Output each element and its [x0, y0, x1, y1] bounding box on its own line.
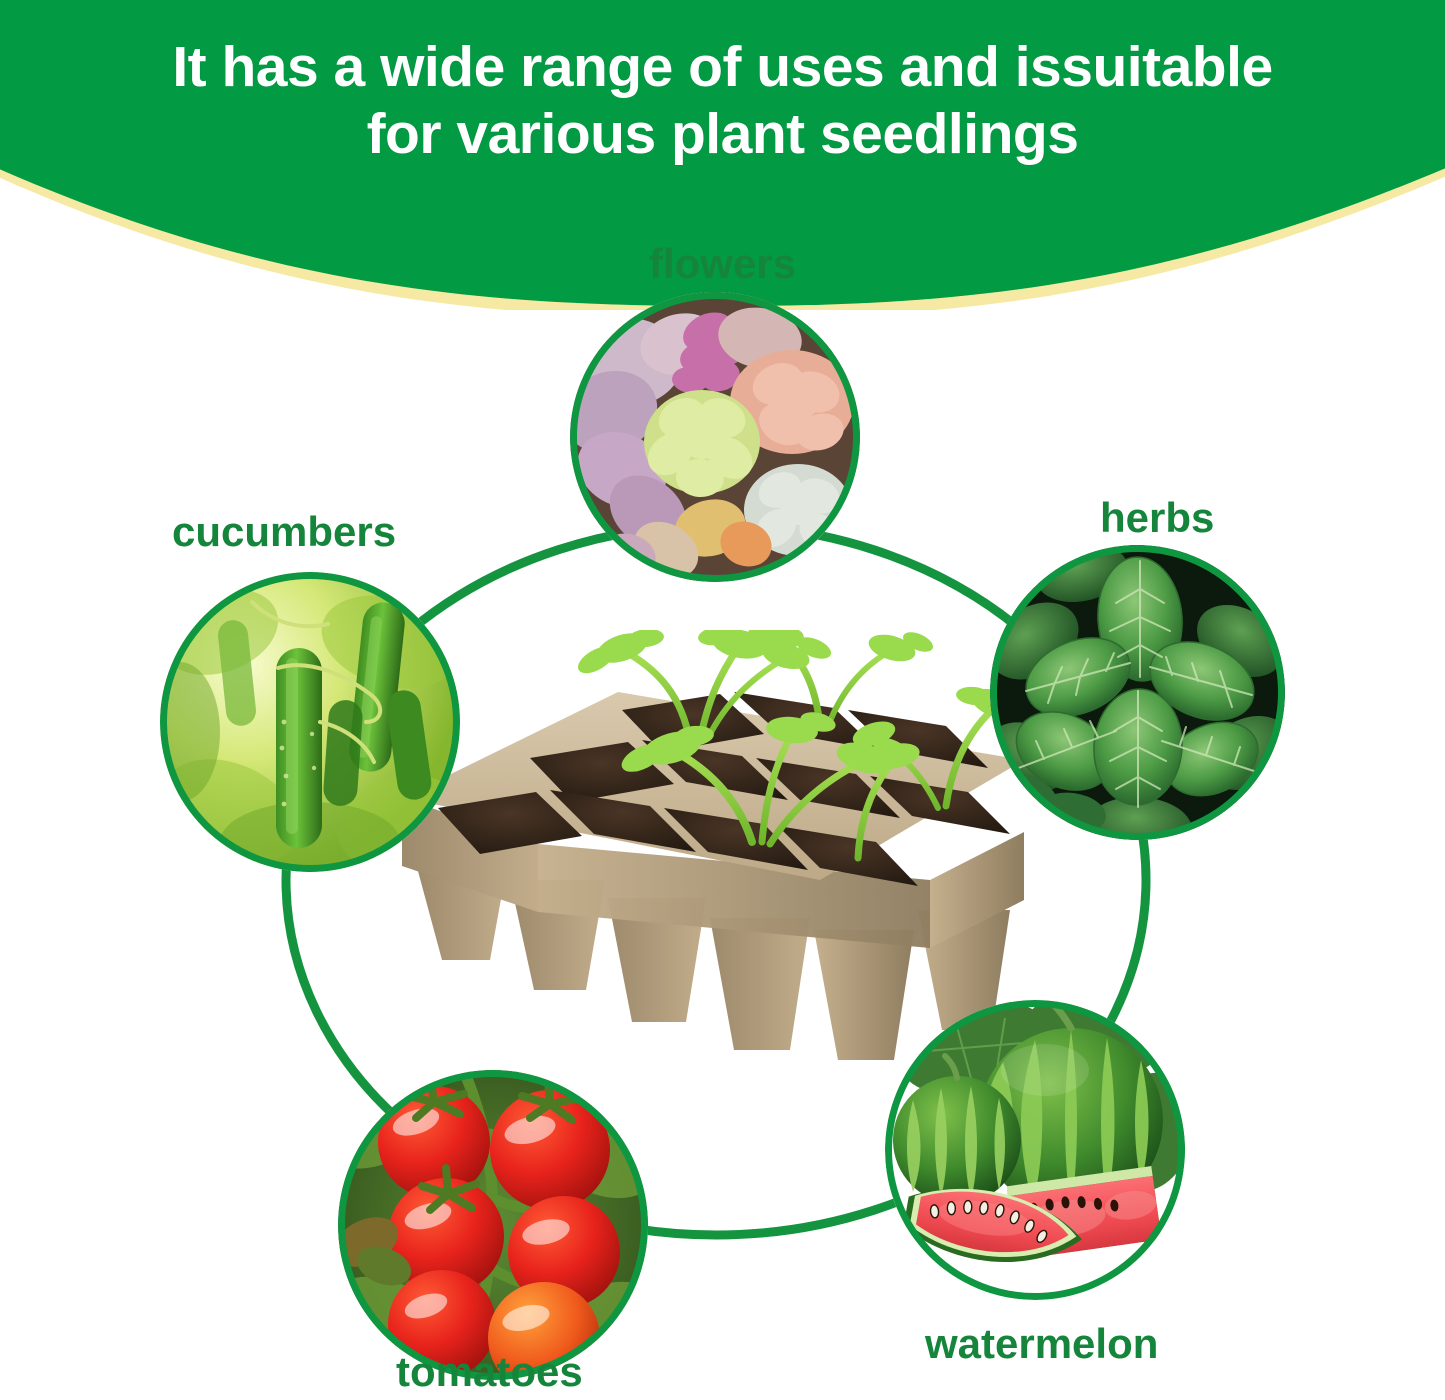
use-label-herbs: herbs — [1100, 494, 1214, 542]
page-title-line-2: for various plant seedlings — [0, 101, 1445, 168]
use-label-watermelon: watermelon — [925, 1320, 1158, 1368]
mint-herb-leaves-photo — [990, 545, 1285, 840]
succulent-flowers-photo — [570, 292, 860, 582]
use-label-flowers: flowers — [0, 240, 1445, 288]
use-label-tomatoes: tomatoes — [396, 1348, 583, 1396]
page-title: It has a wide range of uses and issuitab… — [0, 34, 1445, 169]
infographic-canvas: flowers — [0, 0, 1445, 1400]
tomato-vine-photo — [338, 1070, 648, 1380]
use-bubble-flowers[interactable] — [570, 292, 860, 582]
use-bubble-watermelon[interactable] — [885, 1000, 1185, 1300]
watermelon-fruit-photo — [885, 1000, 1185, 1300]
use-bubble-tomatoes[interactable] — [338, 1070, 648, 1380]
page-title-line-1: It has a wide range of uses and issuitab… — [172, 35, 1272, 99]
cucumber-vine-photo — [160, 572, 460, 872]
use-bubble-cucumbers[interactable] — [160, 572, 460, 872]
use-bubble-herbs[interactable] — [990, 545, 1285, 840]
seed-starter-tray-image — [390, 630, 1040, 1090]
use-label-cucumbers: cucumbers — [172, 508, 396, 556]
